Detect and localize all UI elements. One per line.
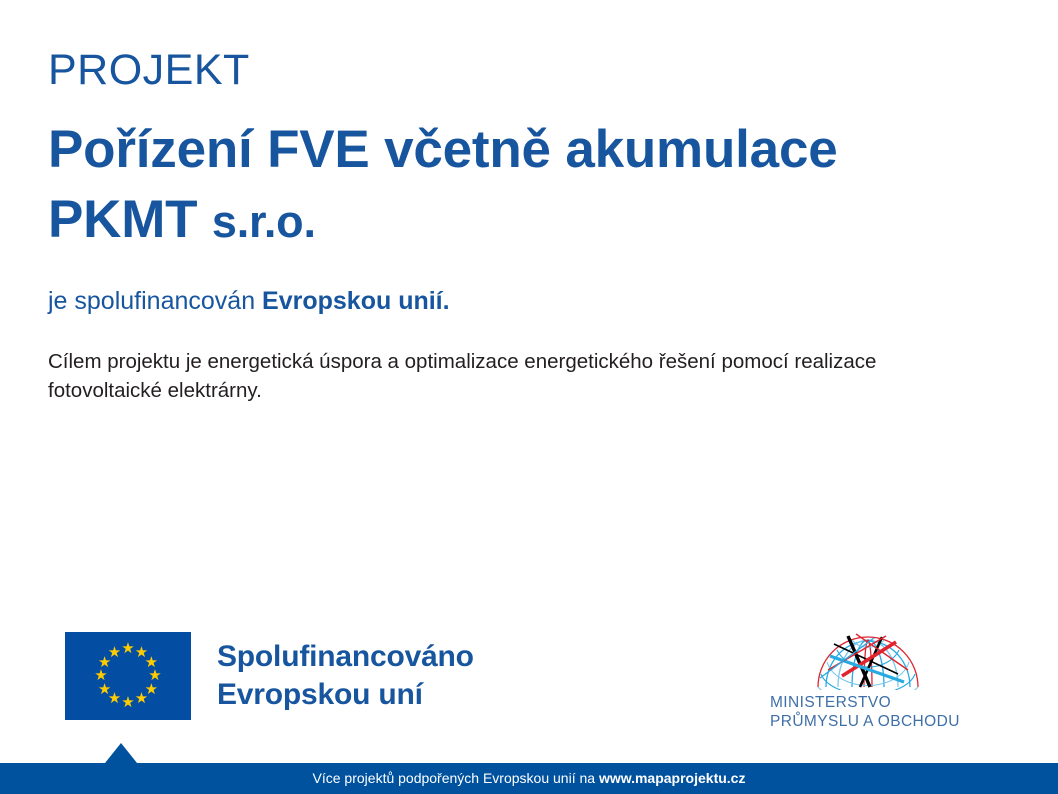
ministry-logo-block: MINISTERSTVO PRŮMYSLU A OBCHODU bbox=[768, 630, 968, 731]
footer-arrow-marker bbox=[105, 743, 137, 763]
footer-bar: Více projektů podpořených Evropskou unií… bbox=[0, 763, 1058, 794]
poster-description: Cílem projektu je energetická úspora a o… bbox=[48, 347, 948, 405]
eu-caption-line-2: Evropskou uní bbox=[217, 676, 474, 714]
eu-star-icon: ★ bbox=[98, 683, 112, 697]
eu-star-icon: ★ bbox=[121, 642, 135, 656]
page-title: Pořízení FVE včetně akumulace PKMT s.r.o… bbox=[48, 115, 978, 255]
ministry-name-line-1: MINISTERSTVO bbox=[770, 694, 968, 713]
poster-subtitle: je spolufinancován Evropskou unií. bbox=[48, 285, 978, 318]
eu-caption-line-1: Spolufinancováno bbox=[217, 638, 474, 676]
footer-website-link[interactable]: www.mapaprojektu.cz bbox=[599, 770, 746, 786]
project-poster: PROJEKT Pořízení FVE včetně akumulace PK… bbox=[0, 0, 1058, 794]
ministry-dome-icon bbox=[812, 630, 924, 690]
ministry-name: MINISTERSTVO PRŮMYSLU A OBCHODU bbox=[770, 694, 968, 731]
poster-content: PROJEKT Pořízení FVE včetně akumulace PK… bbox=[48, 48, 978, 405]
ministry-name-line-2: PRŮMYSLU A OBCHODU bbox=[770, 713, 968, 732]
subtitle-emphasis: Evropskou unií. bbox=[262, 287, 450, 315]
eu-logo-block: ★★★★★★★★★★★★ Spolufinancováno Evropskou … bbox=[65, 632, 474, 720]
footer-text-prefix: Více projektů podpořených Evropskou unií… bbox=[313, 770, 599, 786]
footer-text: Více projektů podpořených Evropskou unií… bbox=[0, 763, 1058, 794]
title-line-1: Pořízení FVE včetně akumulace bbox=[48, 115, 978, 185]
eu-star-icon: ★ bbox=[121, 696, 135, 710]
poster-eyebrow: PROJEKT bbox=[48, 48, 978, 93]
title-legal-suffix: s.r.o. bbox=[212, 196, 316, 247]
eu-flag-icon: ★★★★★★★★★★★★ bbox=[65, 632, 191, 720]
eu-star-icon: ★ bbox=[94, 669, 108, 683]
title-company: PKMT bbox=[48, 190, 197, 249]
eu-star-icon: ★ bbox=[135, 692, 149, 706]
title-line-2: PKMT s.r.o. bbox=[48, 185, 978, 255]
eu-star-icon: ★ bbox=[108, 646, 122, 660]
subtitle-prefix: je spolufinancován bbox=[48, 287, 262, 315]
eu-logo-caption: Spolufinancováno Evropskou uní bbox=[217, 638, 474, 715]
